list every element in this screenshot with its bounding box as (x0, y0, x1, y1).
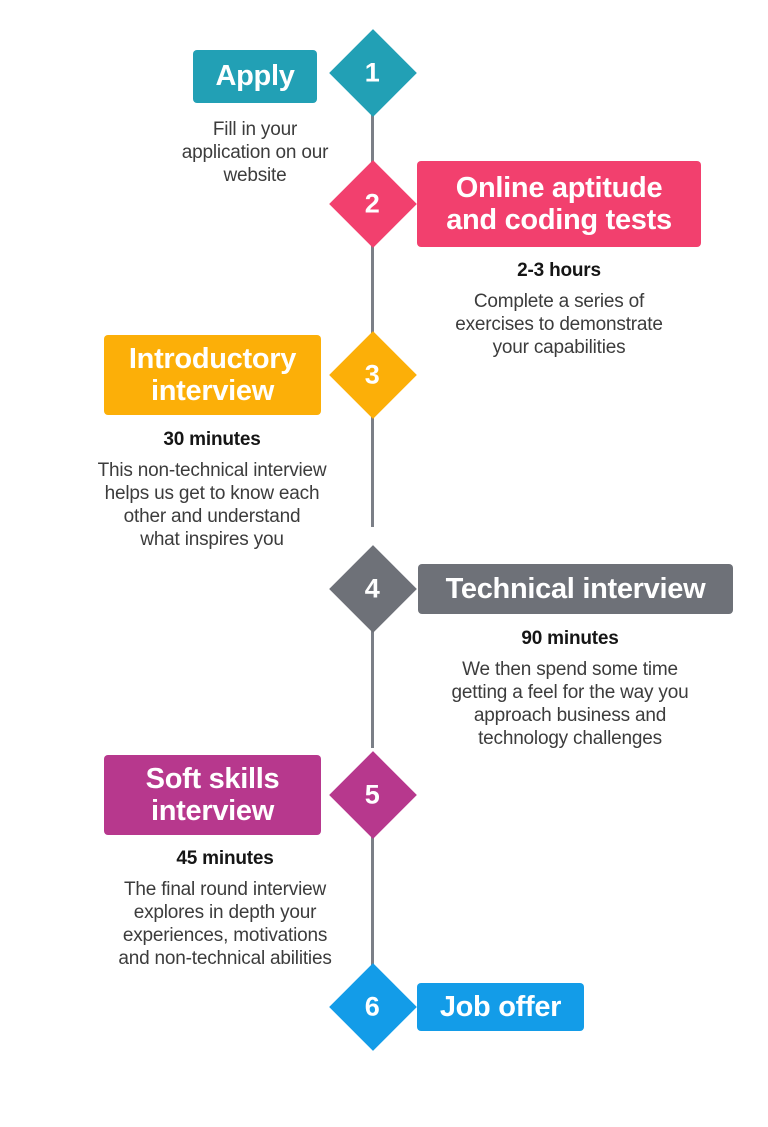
step-4-description: We then spend some time getting a feel f… (420, 658, 720, 751)
step-4-number: 4 (365, 576, 381, 603)
step-1-diamond[interactable]: 1 (329, 29, 417, 117)
step-4-description-block: 90 minutes We then spend some time getti… (420, 627, 720, 750)
step-4-label-box[interactable]: Technical interview (418, 564, 733, 614)
step-4-label: Technical interview (446, 573, 706, 605)
step-6-number: 6 (365, 994, 381, 1021)
step-2-description-block: 2-3 hours Complete a series of exercises… (410, 259, 708, 359)
connector-line-4-5 (371, 620, 374, 748)
step-6-label: Job offer (440, 991, 561, 1023)
step-1-number: 1 (365, 60, 381, 87)
timeline-diagram: Apply 1 Fill in your application on our … (0, 0, 768, 1127)
step-3-duration: 30 minutes (63, 428, 361, 453)
step-6-diamond[interactable]: 6 (329, 963, 417, 1051)
step-2-description: Complete a series of exercises to demons… (410, 290, 708, 360)
step-1-description: Fill in your application on our website (150, 118, 360, 188)
step-5-number: 5 (365, 782, 381, 809)
step-3-label-box[interactable]: Introductory interview (104, 335, 321, 415)
step-2-duration: 2-3 hours (410, 259, 708, 284)
step-5-label: Soft skills interview (146, 763, 280, 828)
step-3-label: Introductory interview (129, 343, 296, 408)
connector-line-3-4 (371, 405, 374, 527)
connector-line-5-6 (371, 826, 374, 968)
step-5-label-box[interactable]: Soft skills interview (104, 755, 321, 835)
step-1-description-block: Fill in your application on our website (150, 118, 360, 188)
step-5-duration: 45 minutes (80, 847, 370, 872)
step-4-diamond[interactable]: 4 (329, 545, 417, 633)
step-3-description: This non-technical interview helps us ge… (63, 459, 361, 552)
step-3-description-block: 30 minutes This non-technical interview … (63, 428, 361, 551)
step-4-duration: 90 minutes (420, 627, 720, 652)
step-5-diamond[interactable]: 5 (329, 751, 417, 839)
step-6-label-box[interactable]: Job offer (417, 983, 584, 1031)
step-2-label: Online aptitude and coding tests (446, 172, 672, 237)
step-5-description-block: 45 minutes The final round interview exp… (80, 847, 370, 970)
step-5-description: The final round interview explores in de… (80, 878, 370, 971)
connector-line-2-3 (371, 235, 374, 345)
step-1-label: Apply (215, 60, 294, 92)
step-2-number: 2 (365, 191, 381, 218)
step-3-number: 3 (365, 362, 381, 389)
step-1-label-box[interactable]: Apply (193, 50, 317, 103)
step-3-diamond[interactable]: 3 (329, 331, 417, 419)
step-2-label-box[interactable]: Online aptitude and coding tests (417, 161, 701, 247)
